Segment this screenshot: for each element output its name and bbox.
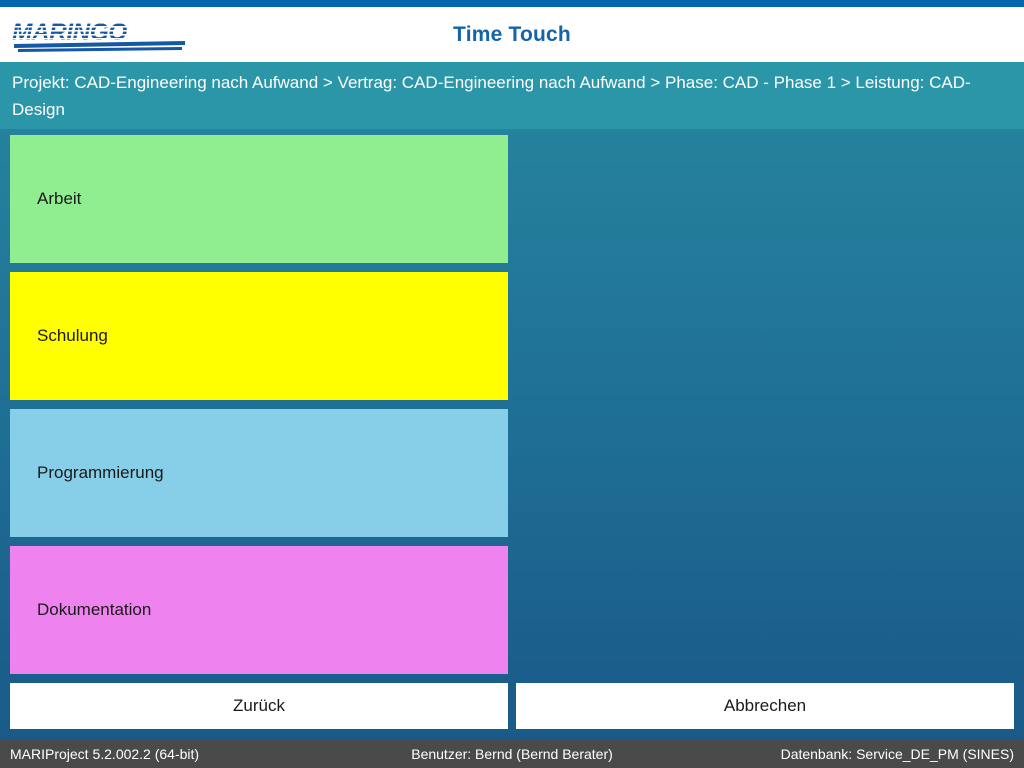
tile-programmierung[interactable]: Programmierung xyxy=(10,409,508,537)
tile-label: Schulung xyxy=(37,326,108,346)
status-database: Datenbank: Service_DE_PM (SINES) xyxy=(679,746,1014,762)
tile-arbeit[interactable]: Arbeit xyxy=(10,135,508,263)
app-header: MARINGO xyxy=(0,7,1024,62)
breadcrumb: Projekt: CAD-Engineering nach Aufwand > … xyxy=(0,62,1024,129)
time-touch-window: MARINGO xyxy=(0,0,1024,768)
status-user: Benutzer: Bernd (Bernd Berater) xyxy=(345,746,680,762)
status-application: MARIProject 5.2.002.2 (64-bit) xyxy=(10,746,345,762)
empty-content-area xyxy=(0,674,1024,683)
tile-label: Programmierung xyxy=(37,463,164,483)
activity-tile-grid: Arbeit Schulung Programmierung Dokumenta… xyxy=(0,129,1024,674)
tile-schulung[interactable]: Schulung xyxy=(10,272,508,400)
status-bar: MARIProject 5.2.002.2 (64-bit) Benutzer:… xyxy=(0,740,1024,768)
maringo-logo: MARINGO xyxy=(10,17,188,55)
tile-label: Dokumentation xyxy=(37,600,151,620)
tile-label: Arbeit xyxy=(37,189,81,209)
action-button-bar: Zurück Abbrechen xyxy=(0,683,1024,740)
back-button[interactable]: Zurück xyxy=(10,683,508,729)
cancel-button[interactable]: Abbrechen xyxy=(516,683,1014,729)
tile-dokumentation[interactable]: Dokumentation xyxy=(10,546,508,674)
top-accent-bar xyxy=(0,0,1024,7)
